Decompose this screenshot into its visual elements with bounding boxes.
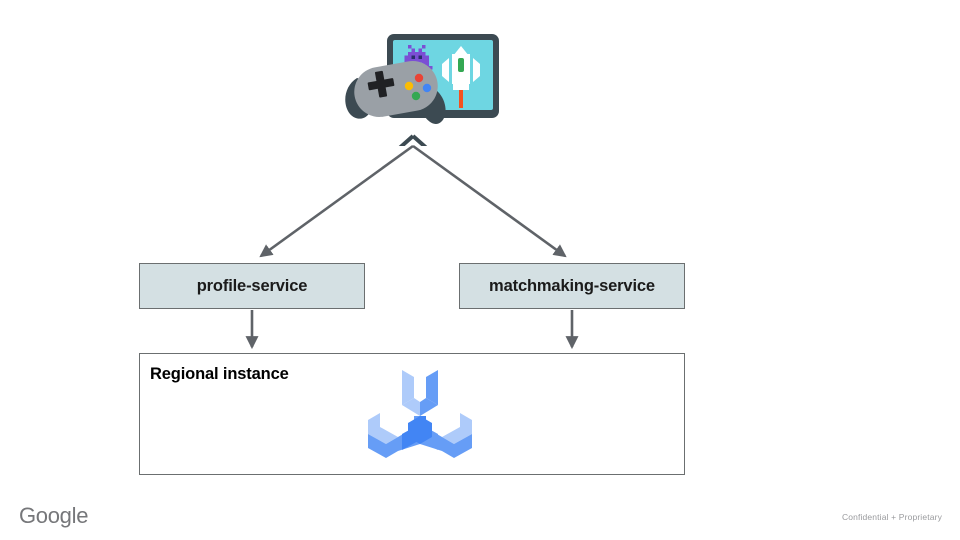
arrow-gaming-to-matchmaking-service (413, 146, 565, 256)
node-regional-instance[interactable]: Regional instance (139, 353, 685, 475)
node-matchmaking-service-label: matchmaking-service (489, 278, 655, 295)
arrow-gaming-to-profile-service (261, 146, 413, 256)
google-logo: Google (19, 505, 88, 527)
node-profile-service[interactable]: profile-service (139, 263, 365, 309)
node-profile-service-label: profile-service (197, 278, 308, 295)
monitor-stand-icon (395, 136, 431, 146)
gaming-controller-icon (340, 28, 505, 146)
cluster-node-icon (362, 364, 478, 470)
node-regional-instance-label: Regional instance (150, 366, 289, 383)
slide-canvas: profile-service matchmaking-service Regi… (0, 0, 960, 540)
confidential-notice: Confidential + Proprietary (842, 513, 942, 522)
node-matchmaking-service[interactable]: matchmaking-service (459, 263, 685, 309)
